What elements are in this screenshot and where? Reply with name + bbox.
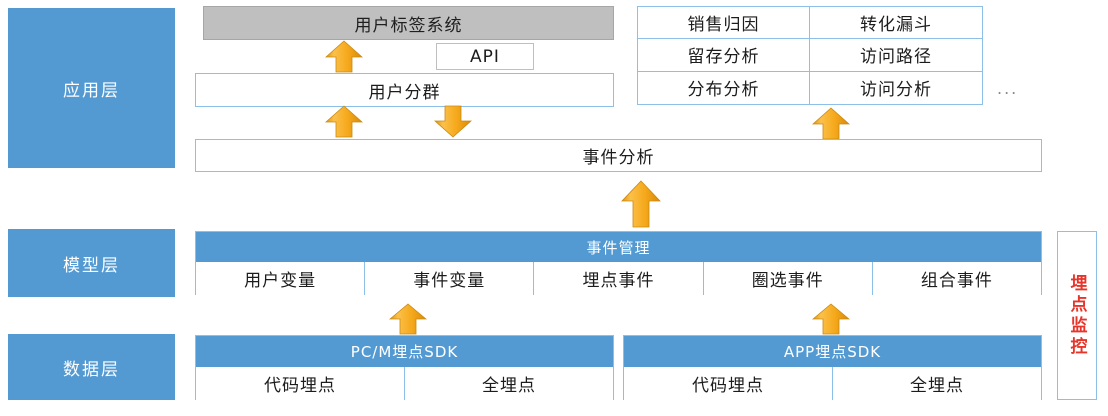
model-item-label: 埋点事件 [583,266,655,291]
model-item-label: 圈选事件 [752,266,824,291]
analysis-module-label: 分布分析 [688,75,760,100]
event-analysis-box[interactable]: 事件分析 [195,139,1042,172]
api-label: API [470,47,500,67]
architecture-diagram: 应用层 模型层 数据层 用户标签系统 API 用户分群 [0,0,1108,416]
model-item-cell[interactable]: 事件变量 [365,262,534,295]
event-management-header: 事件管理 [196,232,1041,262]
layer-label-application: 应用层 [8,8,175,168]
user-tag-system-label: 用户标签系统 [355,11,463,36]
analysis-modules-ellipsis: ... [997,79,1018,98]
analysis-module-label: 留存分析 [688,42,760,67]
arrow-event-analysis-to-analysis-modules [812,107,850,140]
app-sdk-items-row: 代码埋点 全埋点 [624,367,1041,400]
analysis-module-label: 访问分析 [860,75,932,100]
event-management-label: 事件管理 [586,237,650,258]
analysis-module-cell[interactable]: 访问分析 [810,72,982,104]
app-sdk-item-cell[interactable]: 全埋点 [833,367,1041,400]
arrow-segmentation-to-tag-system [325,40,363,73]
layer-label-model: 模型层 [8,229,175,297]
analysis-module-cell[interactable]: 转化漏斗 [810,7,982,39]
api-box[interactable]: API [436,43,534,70]
event-management-group: 事件管理 用户变量 事件变量 埋点事件 圈选事件 组合事件 [195,231,1042,295]
model-item-label: 组合事件 [921,266,993,291]
arrow-event-management-to-event-analysis [621,180,661,228]
arrow-app-sdk-to-event-management [812,303,850,335]
app-sdk-item-cell[interactable]: 代码埋点 [624,367,833,400]
pcm-sdk-items-row: 代码埋点 全埋点 [196,367,613,400]
app-sdk-item-label: 全埋点 [910,371,964,396]
analysis-module-label: 销售归因 [688,10,760,35]
model-item-label: 事件变量 [413,266,485,291]
pcm-sdk-item-label: 全埋点 [482,371,536,396]
pcm-sdk-item-cell[interactable]: 代码埋点 [196,367,405,400]
arrow-segmentation-to-event-analysis [434,105,472,138]
model-items-row: 用户变量 事件变量 埋点事件 圈选事件 组合事件 [196,262,1041,295]
analysis-module-cell[interactable]: 访问路径 [810,39,982,71]
app-sdk-item-label: 代码埋点 [692,371,764,396]
pcm-sdk-item-cell[interactable]: 全埋点 [405,367,613,400]
arrow-pcm-sdk-to-event-management [389,303,427,335]
analysis-module-cell[interactable]: 留存分析 [638,39,810,71]
layer-label-data: 数据层 [8,334,175,400]
pcm-sdk-label: PC/M埋点SDK [351,341,458,362]
user-tag-system-box[interactable]: 用户标签系统 [203,6,614,40]
pcm-sdk-group: PC/M埋点SDK 代码埋点 全埋点 [195,335,614,400]
app-sdk-header: APP埋点SDK [624,336,1041,367]
app-sdk-group: APP埋点SDK 代码埋点 全埋点 [623,335,1042,400]
analysis-module-cell[interactable]: 分布分析 [638,72,810,104]
model-item-cell[interactable]: 用户变量 [196,262,365,295]
user-segmentation-box[interactable]: 用户分群 [195,73,614,107]
layer-label-data-text: 数据层 [63,355,120,380]
arrow-event-analysis-to-segmentation [325,105,363,138]
pcm-sdk-header: PC/M埋点SDK [196,336,613,367]
model-item-cell[interactable]: 圈选事件 [704,262,873,295]
model-item-label: 用户变量 [244,266,316,291]
tracking-monitoring-box[interactable]: 埋点监控 [1057,231,1097,400]
analysis-module-label: 转化漏斗 [860,10,932,35]
model-item-cell[interactable]: 组合事件 [873,262,1041,295]
analysis-module-label: 访问路径 [860,42,932,67]
tracking-monitoring-label: 埋点监控 [1065,274,1090,358]
model-item-cell[interactable]: 埋点事件 [534,262,703,295]
layer-label-model-text: 模型层 [63,251,120,276]
user-segmentation-label: 用户分群 [369,78,441,103]
event-analysis-label: 事件分析 [583,143,655,168]
layer-label-application-text: 应用层 [63,76,120,101]
analysis-module-cell[interactable]: 销售归因 [638,7,810,39]
pcm-sdk-item-label: 代码埋点 [264,371,336,396]
app-sdk-label: APP埋点SDK [784,341,881,362]
analysis-modules-grid: 销售归因 转化漏斗 留存分析 访问路径 分布分析 访问分析 [637,6,983,105]
